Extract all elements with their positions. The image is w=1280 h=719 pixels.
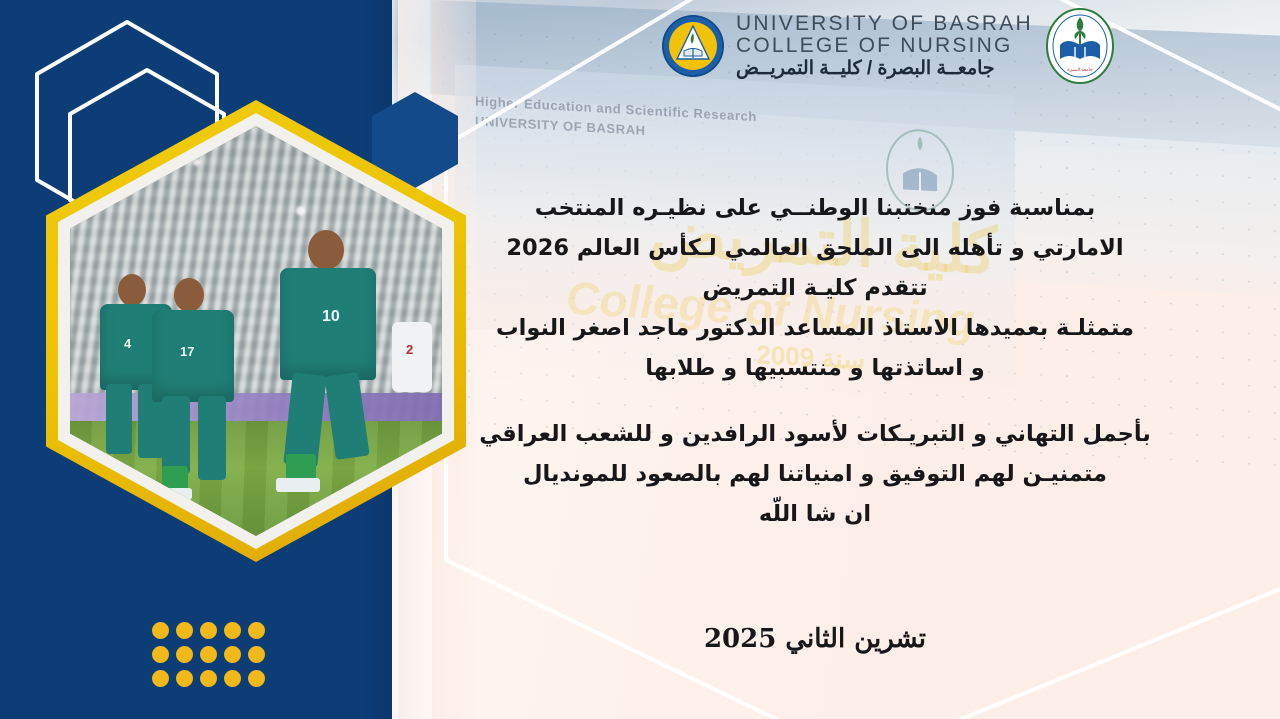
- decor-dot: [176, 646, 193, 663]
- photo-opponent-number: 2: [406, 342, 413, 357]
- decor-dot: [152, 670, 169, 687]
- decor-dot: [248, 646, 265, 663]
- body-line-2: الامارتي و تأهله الى الملحق العالمي لـكأ…: [470, 228, 1160, 268]
- decor-dot: [200, 670, 217, 687]
- photo-player-leg: [162, 396, 190, 474]
- decor-dot: [200, 622, 217, 639]
- header: UNIVERSITY OF BASRAH COLLEGE OF NURSING …: [660, 4, 1280, 88]
- photo-player-number: 4: [124, 336, 131, 351]
- body2-line-3: ان شا اللّه: [470, 494, 1160, 534]
- decor-dot: [224, 622, 241, 639]
- decor-dot-grid: [152, 622, 272, 694]
- body2-line-2: متمنيـن لهم التوفيق و امنياتنا لهم بالصع…: [470, 454, 1160, 494]
- photo-opponent-player: [392, 322, 432, 392]
- banner-english-text: Higher Education and Scientific Research…: [475, 91, 757, 147]
- header-line-college: COLLEGE OF NURSING: [736, 35, 1012, 57]
- decor-dot: [176, 622, 193, 639]
- body-line-5: و اساتذتها و منتسبيها و طلابها: [470, 348, 1160, 388]
- decor-dot: [152, 622, 169, 639]
- header-titles: UNIVERSITY OF BASRAH COLLEGE OF NURSING …: [736, 13, 1033, 78]
- svg-text:جامعة البصرة: جامعة البصرة: [1067, 68, 1093, 73]
- university-of-basrah-seal-icon: [660, 13, 726, 79]
- decor-dot: [248, 622, 265, 639]
- body-line-4: متمثلـة بعميدها الاستاذ المساعد الدكتور …: [470, 308, 1160, 348]
- photo-player-leg: [198, 396, 226, 480]
- body-paragraph-gap: [470, 388, 1160, 414]
- decor-dot: [176, 670, 193, 687]
- photo-player-shoe: [276, 478, 320, 492]
- announcement-body: بمناسبة فوز منختبنا الوطنــي على نظيـره …: [470, 188, 1160, 534]
- header-line-university: UNIVERSITY OF BASRAH: [736, 13, 1033, 35]
- decor-dot: [152, 646, 169, 663]
- body-line-1: بمناسبة فوز منختبنا الوطنــي على نظيـره …: [470, 188, 1160, 228]
- photo-player-head: [118, 274, 146, 306]
- photo-player-head: [308, 230, 344, 270]
- announcement-date: تشرين الثاني 2025: [470, 624, 1160, 654]
- photo-player-number: 10: [322, 308, 340, 326]
- poster-canvas: Higher Education and Scientific Research…: [0, 0, 1280, 719]
- decor-dot: [200, 646, 217, 663]
- photo-hexagon-frame: 4 17 10 2: [46, 100, 466, 562]
- body-line-3: تتقدم كليـة التمريض: [470, 268, 1160, 308]
- college-of-nursing-seal-icon: جامعة البصرة: [1045, 7, 1115, 85]
- photo-player-head: [174, 278, 204, 312]
- photo-player-number: 17: [180, 344, 194, 359]
- decor-dot: [224, 646, 241, 663]
- body2-line-1: بأجمل التهاني و التبريـكات لأسود الرافدي…: [470, 414, 1160, 454]
- decor-dot: [224, 670, 241, 687]
- header-line-arabic: جامعــة البصرة / كليــة التمريــض: [736, 59, 995, 79]
- decor-dot: [248, 670, 265, 687]
- photo-player-leg: [106, 384, 132, 454]
